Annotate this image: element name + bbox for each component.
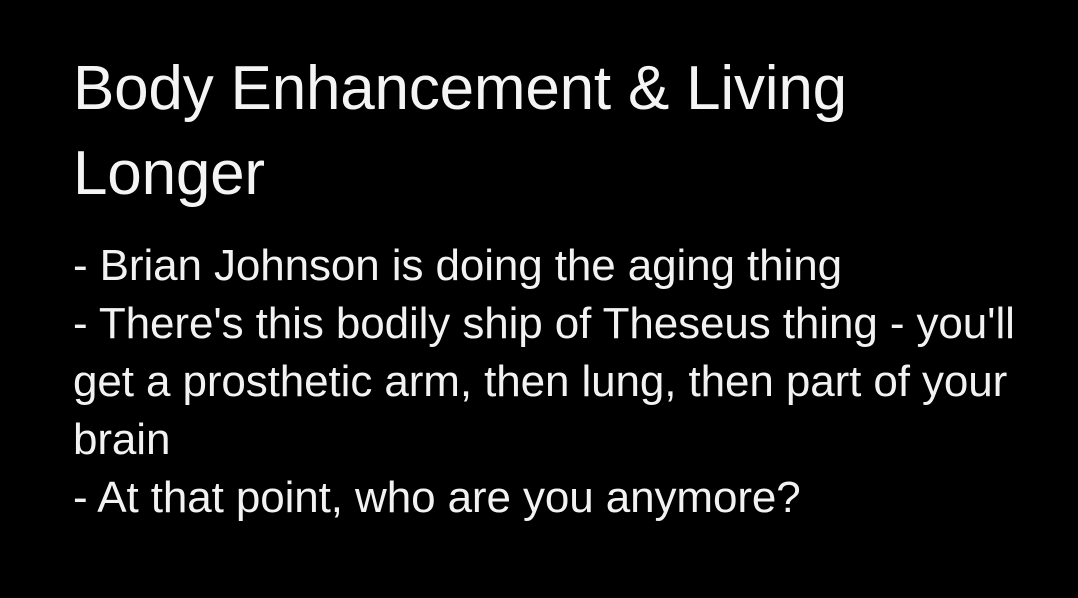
bullet-item: - At that point, who are you anymore? [73,469,1041,527]
bullet-item: - Brian Johnson is doing the aging thing [73,237,1041,295]
slide-body-text: - Brian Johnson is doing the aging thing… [73,237,1041,527]
slide-title: Body Enhancement & Living Longer [73,46,1013,216]
presentation-slide: Body Enhancement & Living Longer - Brian… [0,0,1078,598]
bullet-item: - There's this bodily ship of Theseus th… [73,295,1041,469]
